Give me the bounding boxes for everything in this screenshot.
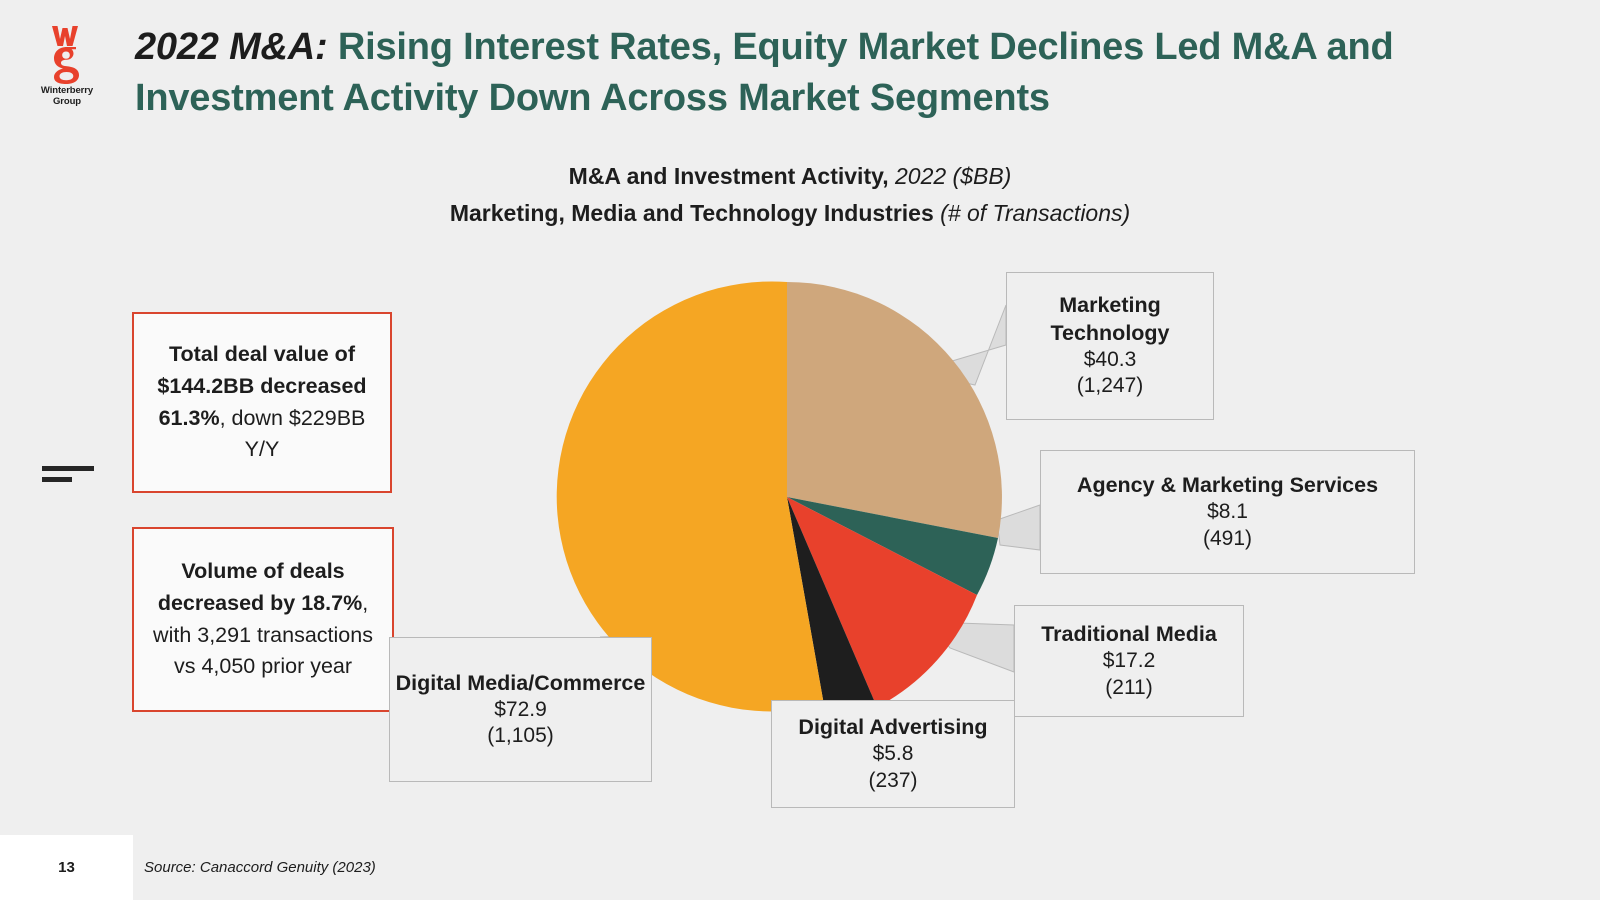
pie-chart-area: Marketing Technology $40.3 (1,247) Agenc… [0,0,1600,900]
source-note: Source: Canaccord Genuity (2023) [144,835,376,900]
label-traditional-media: Traditional Media $17.2 (211) [1014,605,1244,717]
label-digital-media-commerce-count: (1,105) [487,723,554,749]
label-digital-media-commerce: Digital Media/Commerce $72.9 (1,105) [389,637,652,782]
pie-slice-marketing-technology[interactable] [787,282,1002,538]
label-marketing-technology-value: $40.3 [1084,347,1137,373]
label-agency-marketing-services-count: (491) [1203,526,1252,552]
leader-agency [997,505,1040,550]
label-agency-marketing-services: Agency & Marketing Services $8.1 (491) [1040,450,1415,574]
label-marketing-technology-name: Marketing Technology [1007,292,1213,346]
page-number: 13 [0,835,133,900]
label-traditional-media-count: (211) [1105,675,1152,701]
label-digital-advertising-count: (237) [868,768,917,794]
label-traditional-media-value: $17.2 [1103,648,1156,674]
label-digital-advertising: Digital Advertising $5.8 (237) [771,700,1015,808]
label-digital-media-commerce-name: Digital Media/Commerce [396,670,646,697]
label-agency-marketing-services-name: Agency & Marketing Services [1077,472,1378,499]
label-marketing-technology-count: (1,247) [1077,373,1144,399]
label-agency-marketing-services-value: $8.1 [1207,499,1248,525]
label-digital-advertising-name: Digital Advertising [798,714,987,741]
label-digital-advertising-value: $5.8 [873,741,914,767]
label-marketing-technology: Marketing Technology $40.3 (1,247) [1006,272,1214,420]
label-digital-media-commerce-value: $72.9 [494,697,547,723]
label-traditional-media-name: Traditional Media [1041,621,1217,648]
